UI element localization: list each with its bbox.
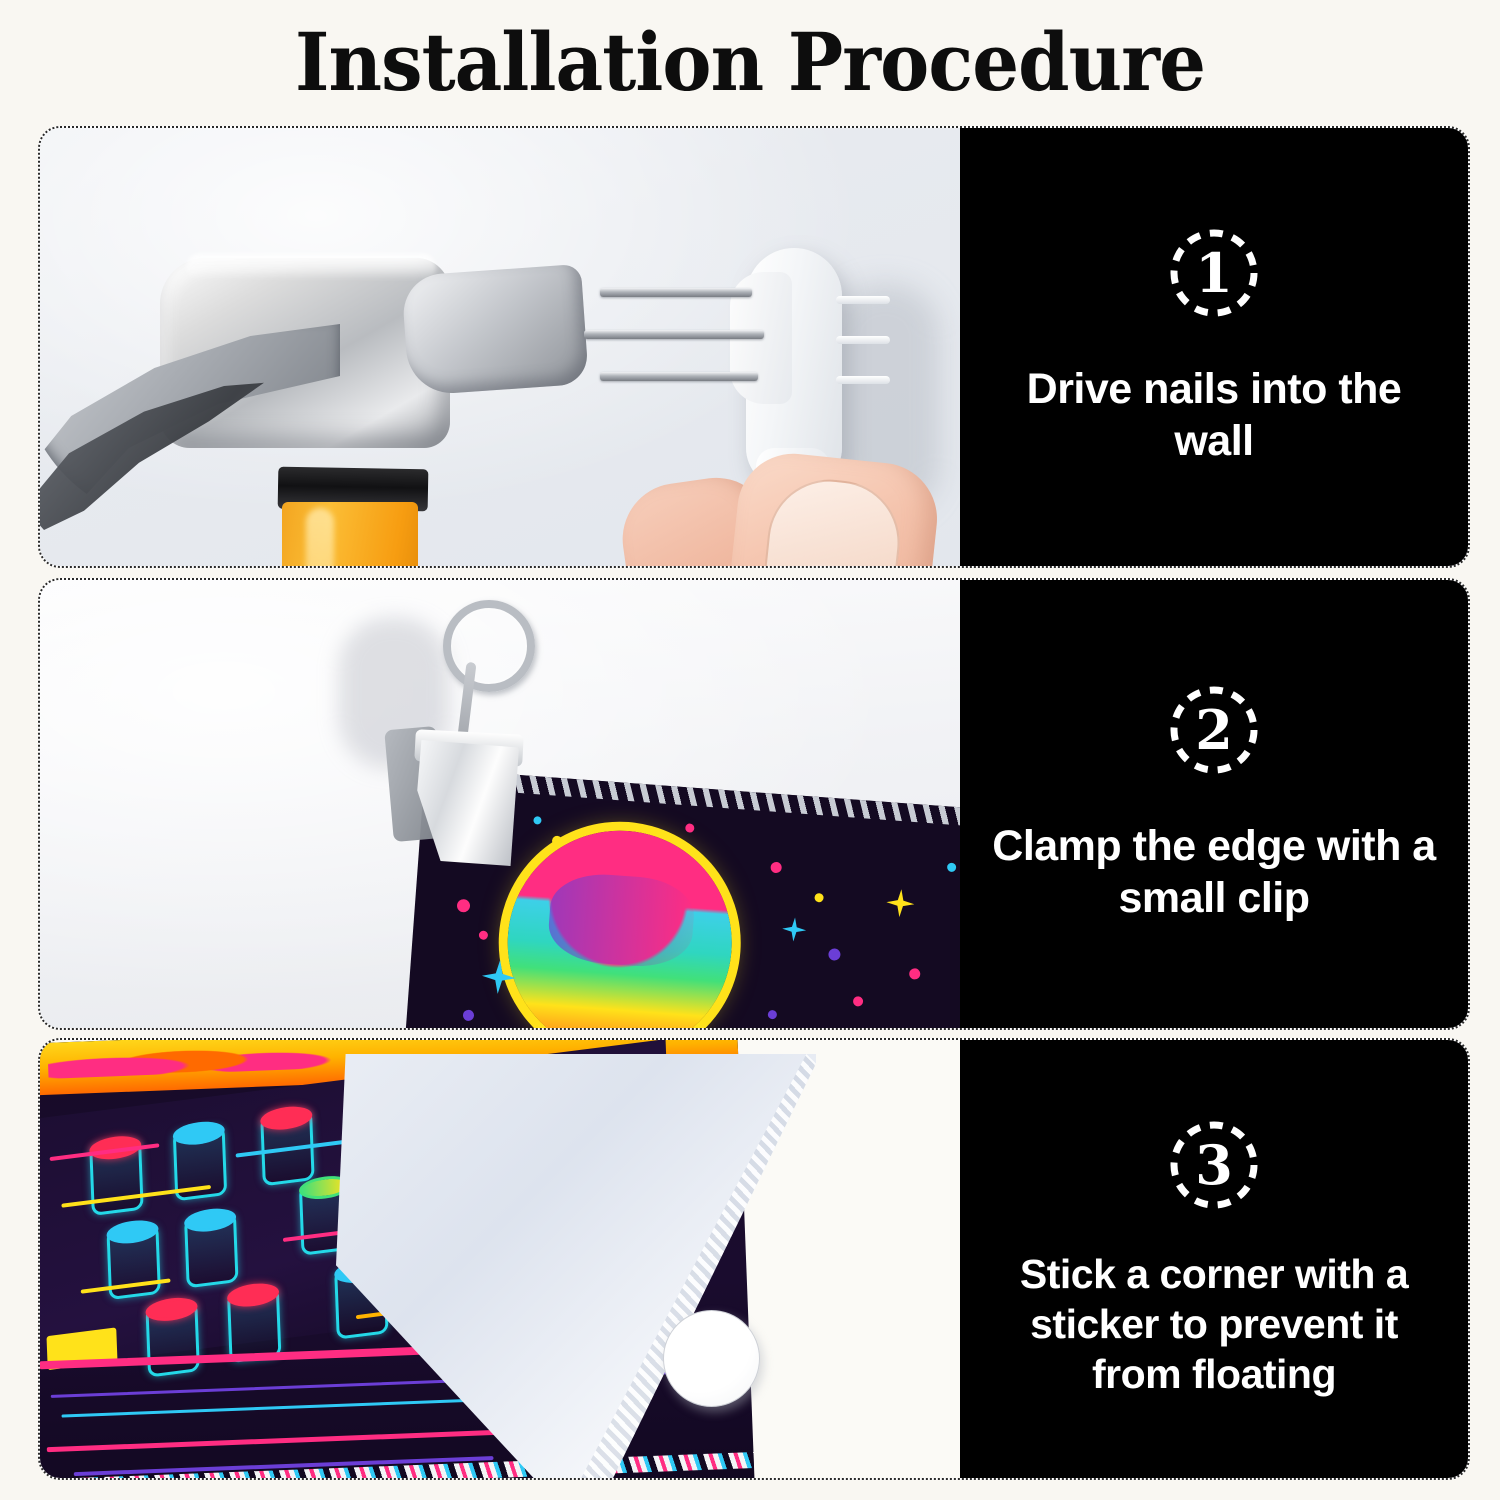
clip-hanging-ring [443,600,535,692]
hook-side-pin-3 [836,376,890,384]
hammer-handle [282,502,418,566]
secondary-planet [911,1020,960,1028]
hook-pin-2 [584,330,764,339]
star-dot [457,899,471,913]
tapestry-neon-stripe [47,1428,547,1452]
hammer-handle-highlight [306,508,334,566]
step-2-number: 2 [1168,684,1260,776]
infographic-page: Installation Procedure [0,0,1500,1500]
hammer-neck [401,264,589,396]
step-2-badge: 2 [1168,684,1260,776]
step-card-2: 2 Clamp the edge with a small clip [38,578,1470,1030]
arcade-flame-art [47,1040,348,1079]
metal-spring-clip [395,600,575,870]
star-dot [768,1010,778,1020]
step-1-panel: 1 Drive nails into the wall [960,128,1468,566]
step-1-badge: 1 [1168,227,1260,319]
step-3-panel: 3 Stick a corner with a sticker to preve… [960,1040,1468,1478]
step-2-text: Clamp the edge with a small clip [960,820,1468,925]
star-dot [828,948,841,961]
clip-body [413,740,519,866]
step-3-text: Stick a corner with a sticker to prevent… [960,1249,1468,1399]
step-3-badge: 3 [1168,1119,1260,1211]
tapestry-bottom-hem [40,1452,754,1478]
step-2-photo [40,580,960,1028]
hook-pin-1 [600,288,752,297]
arcade-knob [184,1212,238,1288]
star-sparkle-3 [781,917,807,943]
star-dot [463,1009,475,1021]
step-2-panel: 2 Clamp the edge with a small clip [960,580,1468,1028]
star-dot [814,893,824,903]
arcade-knob [145,1301,199,1377]
round-adhesive-sticker [663,1310,760,1407]
claw-hammer-illustration [40,240,570,566]
hook-side-pin-2 [836,336,890,344]
page-title: Installation Procedure [60,14,1440,110]
star-dot [770,862,782,874]
step-card-1: 1 Drive nails into the wall [38,126,1470,568]
step-1-text: Drive nails into the wall [960,363,1468,468]
star-sparkle-2 [885,888,915,918]
hook-side-pin-1 [836,296,890,304]
step-1-number: 1 [1168,227,1260,319]
step-card-3: 3 Stick a corner with a sticker to preve… [38,1038,1470,1480]
star-dot [947,863,957,873]
step-1-photo [40,128,960,566]
star-dot [685,823,695,833]
star-dot [909,968,921,980]
step-3-photo [40,1040,960,1478]
star-dot [479,930,489,940]
hammer-highlight [186,254,436,280]
hook-pin-3 [600,372,758,381]
star-dot [853,996,864,1007]
step-3-number: 3 [1168,1119,1260,1211]
